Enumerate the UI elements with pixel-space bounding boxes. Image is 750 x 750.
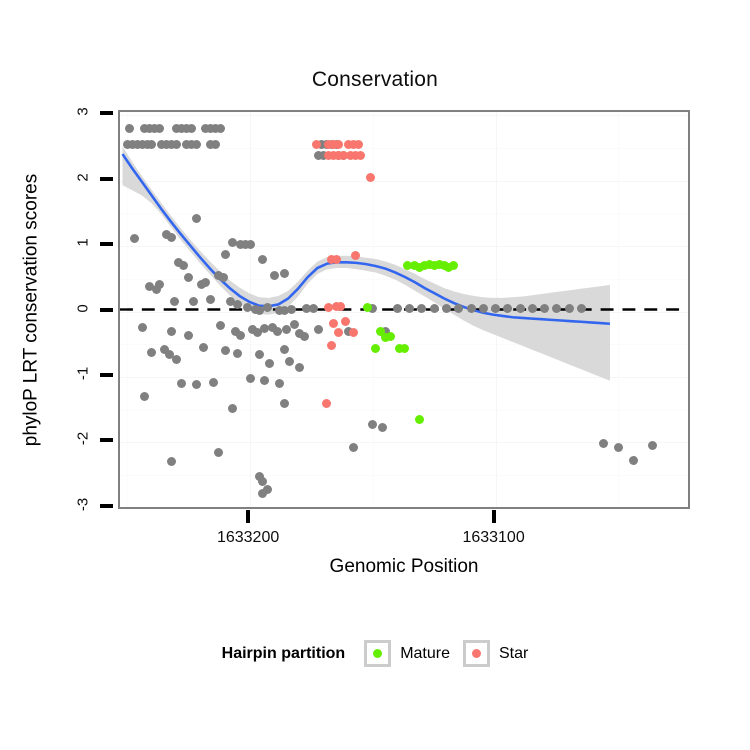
scatter-point — [467, 304, 476, 313]
x-axis-tick-label: 1633100 — [439, 529, 549, 547]
scatter-point — [614, 443, 623, 452]
plot-panel — [118, 110, 690, 509]
y-axis-tick-mark — [100, 242, 113, 246]
scatter-point — [260, 376, 269, 385]
scatter-point — [273, 327, 282, 336]
scatter-point — [192, 140, 201, 149]
grid-line-horizontal — [120, 508, 688, 509]
scatter-point — [246, 240, 255, 249]
scatter-point — [516, 304, 525, 313]
y-axis-tick-label: 1 — [70, 234, 96, 251]
legend-item[interactable]: Star — [463, 640, 528, 667]
y-axis-tick-mark — [100, 308, 113, 312]
scatter-point — [295, 363, 304, 372]
y-axis-tick-label: 0 — [70, 300, 96, 317]
scatter-point — [327, 341, 336, 350]
y-axis-tick-mark — [100, 177, 113, 181]
scatter-point — [371, 344, 380, 353]
scatter-point — [214, 448, 223, 457]
scatter-point — [192, 380, 201, 389]
scatter-point — [351, 251, 360, 260]
legend-item-label: Star — [499, 645, 528, 663]
y-axis-tick-label-text: -1 — [75, 360, 92, 386]
y-axis-tick-mark — [100, 438, 113, 442]
x-axis-tick-label: 1633200 — [193, 529, 303, 547]
scatter-point — [280, 269, 289, 278]
scatter-point — [275, 379, 284, 388]
scatter-point — [216, 124, 225, 133]
chart-root: Conservation phyloP LRT conservation sco… — [0, 0, 750, 750]
legend-item[interactable]: Mature — [364, 640, 450, 667]
scatter-point — [400, 344, 409, 353]
scatter-point — [491, 304, 500, 313]
y-axis-tick-label-text: 1 — [75, 230, 92, 256]
scatter-point — [393, 304, 402, 313]
y-axis-tick-label-text: -2 — [75, 426, 92, 452]
y-axis-tick-label-text: 0 — [75, 295, 92, 321]
scatter-point — [540, 304, 549, 313]
scatter-point — [565, 304, 574, 313]
legend-items: MatureStar — [364, 640, 528, 667]
legend-key-swatch — [463, 640, 490, 667]
scatter-point — [177, 379, 186, 388]
scatter-point — [577, 304, 586, 313]
scatter-point — [263, 485, 272, 494]
y-axis-label-text: phyloP LRT conservation scores — [20, 174, 42, 447]
scatter-point — [258, 255, 267, 264]
y-axis-tick-label-text: 2 — [75, 164, 92, 190]
scatter-point — [329, 319, 338, 328]
scatter-point — [209, 378, 218, 387]
x-axis-tick-mark — [492, 510, 496, 523]
scatter-point — [130, 234, 139, 243]
scatter-point — [386, 332, 395, 341]
scatter-point — [349, 328, 358, 337]
scatter-point — [300, 332, 309, 341]
scatter-point — [155, 124, 164, 133]
scatter-point — [192, 214, 201, 223]
legend-dot-icon — [472, 649, 481, 658]
y-axis-tick-label-text: -3 — [75, 491, 92, 517]
legend-dot-icon — [373, 649, 382, 658]
legend-title: Hairpin partition — [222, 645, 346, 663]
scatter-point — [199, 343, 208, 352]
legend-item-label: Mature — [400, 645, 450, 663]
scatter-point — [629, 456, 638, 465]
legend: Hairpin partition MatureStar — [0, 640, 750, 667]
x-axis-tick-mark — [246, 510, 250, 523]
y-axis-tick-label: -2 — [70, 430, 96, 447]
y-axis-tick-label: -3 — [70, 496, 96, 513]
y-axis-tick-label: 3 — [70, 103, 96, 120]
scatter-point — [334, 328, 343, 337]
scatter-point — [170, 297, 179, 306]
scatter-point — [280, 399, 289, 408]
scatter-point — [280, 345, 289, 354]
scatter-point — [454, 304, 463, 313]
scatter-point — [354, 140, 363, 149]
scatter-point — [430, 304, 439, 313]
legend-key-swatch — [364, 640, 391, 667]
scatter-point — [189, 297, 198, 306]
scatter-point — [201, 278, 210, 287]
scatter-point — [184, 331, 193, 340]
scatter-point — [285, 357, 294, 366]
page-title: Conservation — [0, 68, 750, 92]
scatter-point — [140, 392, 149, 401]
y-axis-tick-label-text: 3 — [75, 99, 92, 125]
scatter-point — [415, 415, 424, 424]
scatter-point — [236, 331, 245, 340]
scatter-point — [219, 273, 228, 282]
scatter-point — [155, 280, 164, 289]
scatter-point — [442, 304, 451, 313]
scatter-point — [147, 348, 156, 357]
y-axis-tick-mark — [100, 373, 113, 377]
y-axis-tick-label: 2 — [70, 169, 96, 186]
scatter-point — [187, 124, 196, 133]
y-axis-tick-mark — [100, 504, 113, 508]
scatter-point — [366, 173, 375, 182]
scatter-point — [405, 304, 414, 313]
x-axis-label: Genomic Position — [118, 556, 690, 578]
scatter-point — [332, 255, 341, 264]
scatter-point — [263, 303, 272, 312]
y-axis-tick-label: -1 — [70, 365, 96, 382]
scatter-point — [368, 420, 377, 429]
y-axis-label: phyloP LRT conservation scores — [14, 110, 48, 510]
scatter-point — [349, 443, 358, 452]
scatter-point — [246, 374, 255, 383]
scatter-point — [167, 327, 176, 336]
scatter-point — [138, 323, 147, 332]
y-axis-tick-mark — [100, 111, 113, 115]
scatter-point — [528, 304, 537, 313]
scatter-point — [479, 304, 488, 313]
scatter-point — [322, 399, 331, 408]
scatter-point — [290, 320, 299, 329]
